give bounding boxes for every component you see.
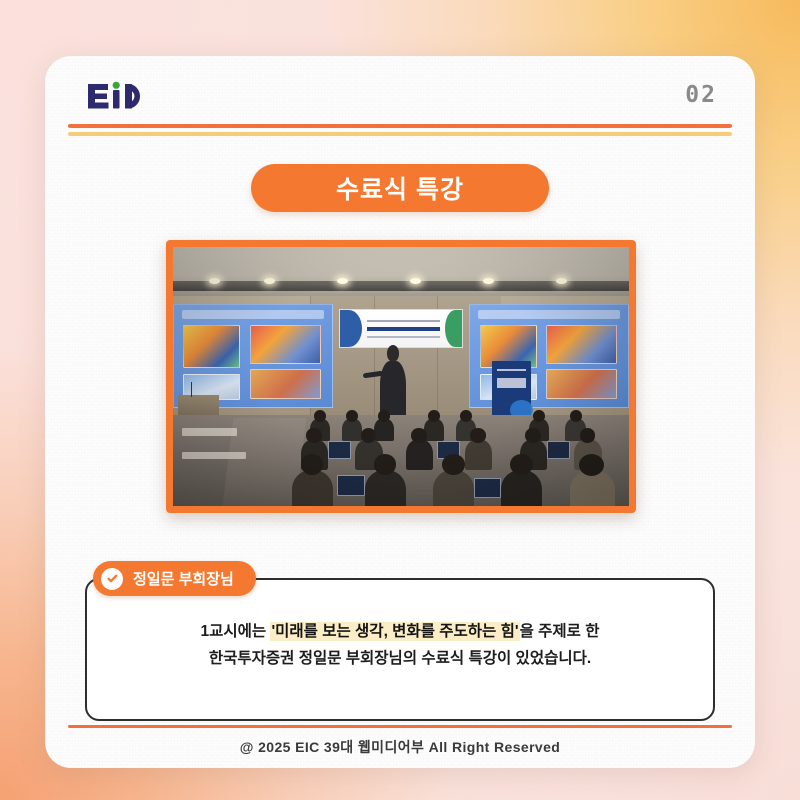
lecture-photo-frame xyxy=(166,240,636,513)
speaker-name: 정일문 부회장님 xyxy=(133,568,234,589)
header-rule-primary xyxy=(68,124,732,128)
note-line1-highlight: '미래를 보는 생각, 변화를 주도하는 힘' xyxy=(270,622,519,641)
header-rule-secondary xyxy=(68,132,732,136)
footer-rule xyxy=(68,725,732,728)
slide-card: 02 수료식 특강 xyxy=(45,56,755,768)
note-line1-suffix: 을 주제로 한 xyxy=(520,623,600,640)
footer-copyright: @ 2025 EIC 39대 웹미디어부 All Right Reserved xyxy=(45,737,755,757)
eic-logo xyxy=(84,78,162,114)
section-title-banner: 수료식 특강 xyxy=(251,164,549,212)
lecture-photo xyxy=(173,247,629,506)
note-body: 1교시에는 '미래를 보는 생각, 변화를 주도하는 힘'을 주제로 한 한국투… xyxy=(85,619,715,672)
note-line-2: 한국투자증권 정일문 부회장님의 수료식 특강이 있었습니다. xyxy=(115,646,685,673)
check-circle-icon xyxy=(101,568,123,590)
note-line1-prefix: 1교시에는 xyxy=(200,623,270,640)
speaker-note-section: 정일문 부회장님 1교시에는 '미래를 보는 생각, 변화를 주도하는 힘'을 … xyxy=(85,561,715,721)
page-number: 02 xyxy=(685,82,717,108)
page-title: 수료식 특강 xyxy=(336,170,464,206)
note-line-1: 1교시에는 '미래를 보는 생각, 변화를 주도하는 힘'을 주제로 한 xyxy=(115,619,685,646)
speaker-badge[interactable]: 정일문 부회장님 xyxy=(93,561,256,596)
header: 02 xyxy=(45,56,755,132)
